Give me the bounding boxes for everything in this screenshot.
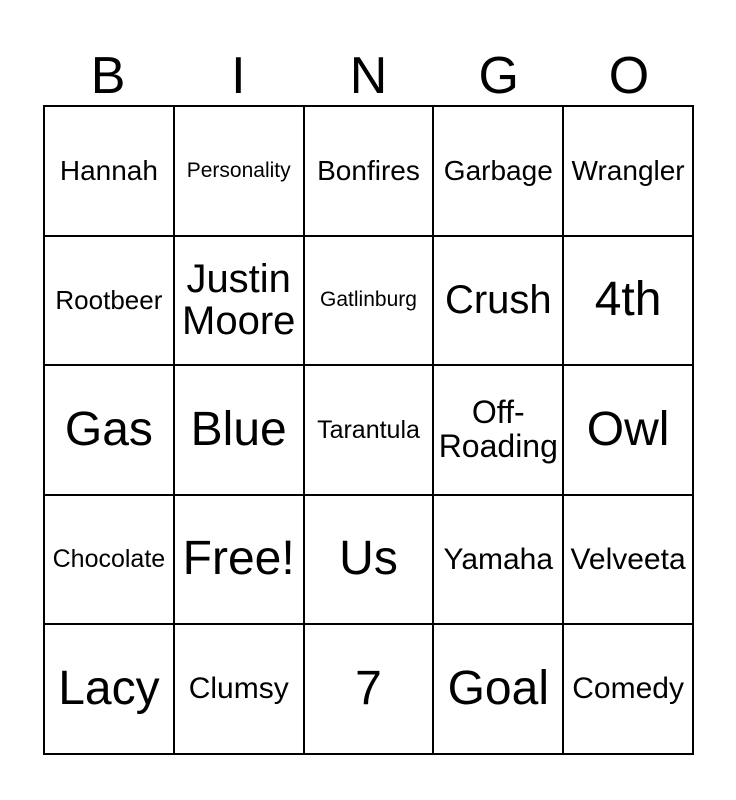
bingo-cell-label: Crush xyxy=(437,279,559,321)
bingo-cell-label: Comedy xyxy=(567,673,689,705)
bingo-cell[interactable]: Lacy xyxy=(45,625,175,755)
bingo-cell-label: Tarantula xyxy=(308,417,430,444)
bingo-cell[interactable]: Owl xyxy=(564,366,694,496)
bingo-cell-label: Clumsy xyxy=(178,673,300,705)
bingo-cell[interactable]: Clumsy xyxy=(175,625,305,755)
bingo-cell-label: Lacy xyxy=(48,664,170,715)
bingo-header-letter-o: O xyxy=(564,48,694,104)
bingo-header-letter-g: G xyxy=(434,48,564,104)
bingo-header-letter-i: I xyxy=(173,48,303,104)
bingo-cell[interactable]: Gatlinburg xyxy=(305,237,435,367)
bingo-cell-label: Hannah xyxy=(48,156,170,186)
bingo-cell[interactable]: Personality xyxy=(175,107,305,237)
bingo-cell-label: Rootbeer xyxy=(48,287,170,315)
bingo-cell-free-space[interactable]: Free! xyxy=(175,496,305,626)
bingo-cell-label: Blue xyxy=(178,405,300,456)
bingo-cell[interactable]: Comedy xyxy=(564,625,694,755)
bingo-cell-label: Garbage xyxy=(437,156,559,186)
bingo-header-letter-b: B xyxy=(43,48,173,104)
bingo-grid: HannahPersonalityBonfiresGarbageWrangler… xyxy=(43,105,694,755)
bingo-cell-label: Us xyxy=(308,534,430,585)
bingo-cell[interactable]: 7 xyxy=(305,625,435,755)
bingo-cell-label: 4th xyxy=(567,275,689,326)
bingo-cell[interactable]: Blue xyxy=(175,366,305,496)
bingo-cell-label: Off-Roading xyxy=(437,396,559,464)
bingo-cell-label: Chocolate xyxy=(48,546,170,573)
bingo-header-row: BINGO xyxy=(43,28,694,104)
bingo-cell[interactable]: 4th xyxy=(564,237,694,367)
bingo-cell[interactable]: Bonfires xyxy=(305,107,435,237)
bingo-cell-label: Owl xyxy=(567,405,689,456)
bingo-cell[interactable]: Rootbeer xyxy=(45,237,175,367)
bingo-cell[interactable]: Us xyxy=(305,496,435,626)
bingo-cell-label: Gatlinburg xyxy=(308,289,430,311)
bingo-cell-label: Personality xyxy=(178,160,300,182)
bingo-cell[interactable]: Off-Roading xyxy=(434,366,564,496)
bingo-cell[interactable]: Velveeta xyxy=(564,496,694,626)
bingo-cell-label: Yamaha xyxy=(437,544,559,576)
bingo-cell-label: Wrangler xyxy=(567,156,689,186)
bingo-cell[interactable]: Justin Moore xyxy=(175,237,305,367)
bingo-cell[interactable]: Wrangler xyxy=(564,107,694,237)
bingo-cell[interactable]: Yamaha xyxy=(434,496,564,626)
bingo-cell-label: Free! xyxy=(178,534,300,585)
bingo-header-letter-n: N xyxy=(303,48,433,104)
bingo-cell[interactable]: Tarantula xyxy=(305,366,435,496)
bingo-cell-label: Goal xyxy=(437,664,559,715)
bingo-cell-label: Justin Moore xyxy=(178,258,300,343)
bingo-cell[interactable]: Chocolate xyxy=(45,496,175,626)
bingo-cell-label: Bonfires xyxy=(308,156,430,186)
bingo-cell-label: 7 xyxy=(308,664,430,715)
bingo-cell-label: Gas xyxy=(48,405,170,456)
bingo-cell[interactable]: Crush xyxy=(434,237,564,367)
bingo-cell[interactable]: Hannah xyxy=(45,107,175,237)
bingo-cell-label: Velveeta xyxy=(567,544,689,576)
bingo-cell[interactable]: Gas xyxy=(45,366,175,496)
bingo-cell[interactable]: Goal xyxy=(434,625,564,755)
bingo-card: BINGO HannahPersonalityBonfiresGarbageWr… xyxy=(0,0,736,800)
bingo-cell[interactable]: Garbage xyxy=(434,107,564,237)
